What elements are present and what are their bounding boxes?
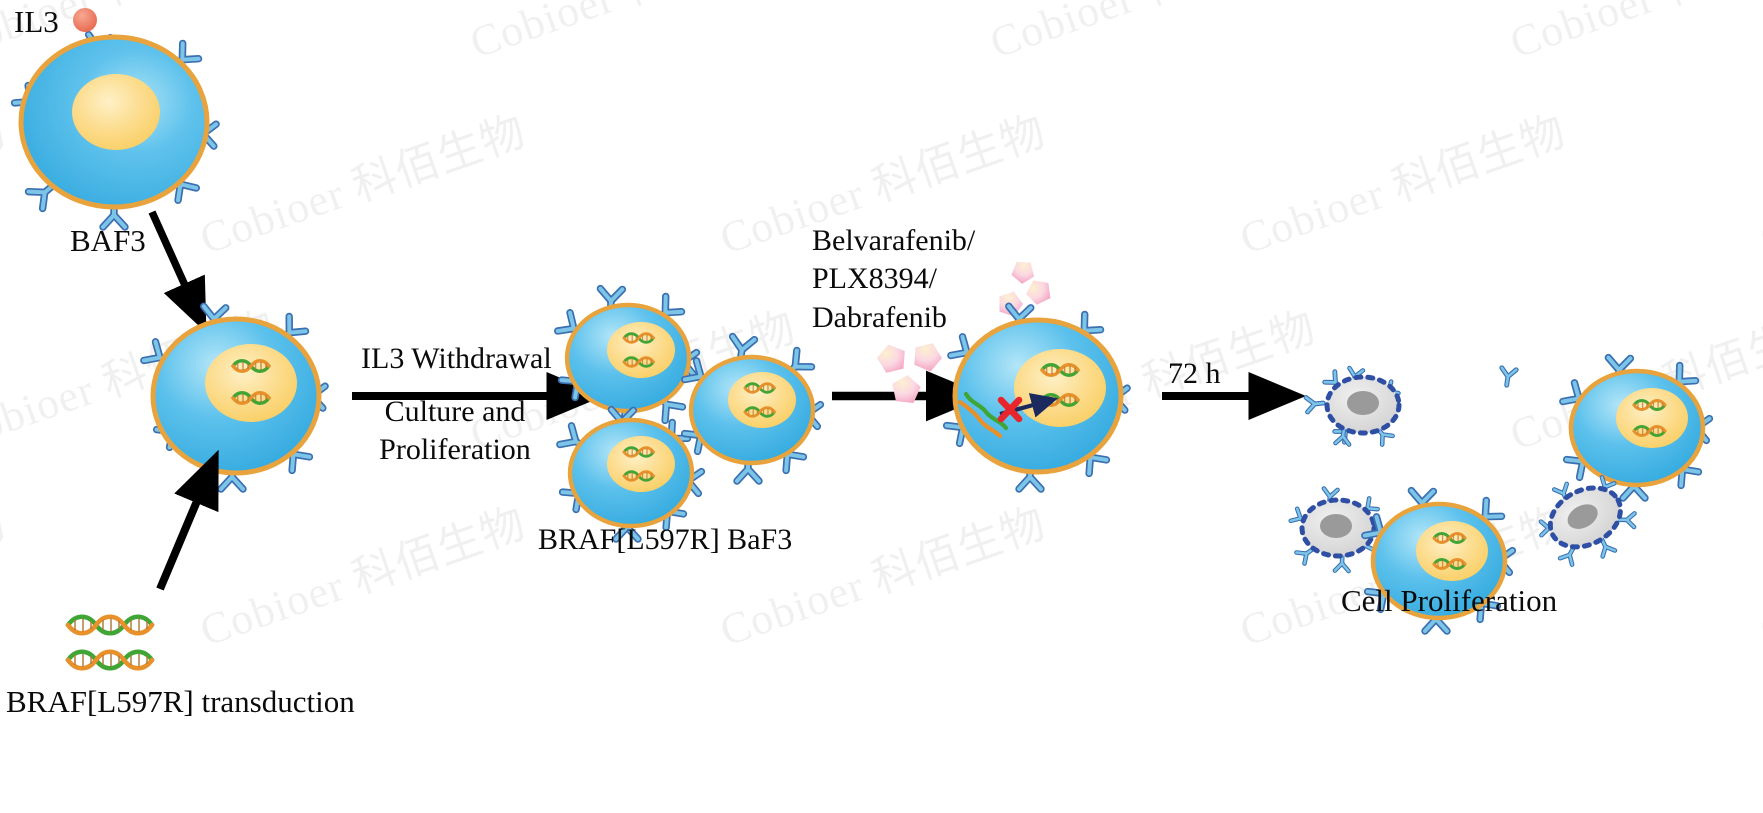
cluster-cell — [558, 289, 697, 429]
cell-nucleus — [1416, 521, 1488, 581]
cell-nucleus — [728, 372, 796, 428]
arrow-dna-to-transduced — [160, 494, 200, 589]
cell-nucleus — [205, 344, 297, 422]
label-il3: IL3 — [14, 2, 59, 42]
culture-line2: Proliferation — [375, 431, 535, 469]
cluster-cell — [560, 410, 702, 539]
figure-canvas: Cobioer 科佰生物Cobioer 科佰生物Cobioer 科佰生物Cobi… — [0, 0, 1763, 813]
label-transduction: BRAF[L597R] transduction — [6, 682, 355, 722]
stage-transduced-cell — [144, 306, 325, 489]
cell-nucleus — [1616, 388, 1688, 448]
label-braf-baf3: BRAF[L597R] BaF3 — [538, 521, 792, 559]
dna-construct-icon — [68, 617, 152, 669]
label-baf3: BAF3 — [70, 221, 146, 261]
dead-cell-nucleus — [1347, 391, 1379, 415]
cell-nucleus — [1014, 349, 1106, 427]
cell-nucleus — [607, 322, 675, 378]
culture-line1: Culture and — [375, 393, 535, 431]
cell-nucleus — [607, 436, 675, 492]
stage-braf-baf3-cluster — [558, 289, 821, 539]
arrow-baf3-to-transduced — [152, 212, 188, 292]
drug-line1: Belvarafenib/ — [812, 222, 975, 260]
label-cell-proliferation: Cell Proliferation — [1341, 581, 1557, 621]
dead-cell — [1306, 368, 1516, 445]
label-culture-proliferation: Culture and Proliferation — [375, 393, 535, 470]
dead-cell-nucleus — [1320, 514, 1352, 538]
label-72h: 72 h — [1168, 355, 1221, 393]
drug-line2: PLX8394/ — [812, 260, 975, 298]
il3-ligand-icon — [73, 8, 97, 32]
live-cell — [1563, 358, 1710, 498]
label-drugs: Belvarafenib/ PLX8394/ Dabrafenib — [812, 222, 975, 337]
label-il3-withdrawal: IL3 Withdrawal — [361, 340, 552, 378]
drug-line3: Dabrafenib — [812, 299, 975, 337]
cluster-cell — [685, 337, 821, 481]
dead-cell — [1291, 489, 1383, 572]
cell-nucleus — [72, 74, 160, 150]
